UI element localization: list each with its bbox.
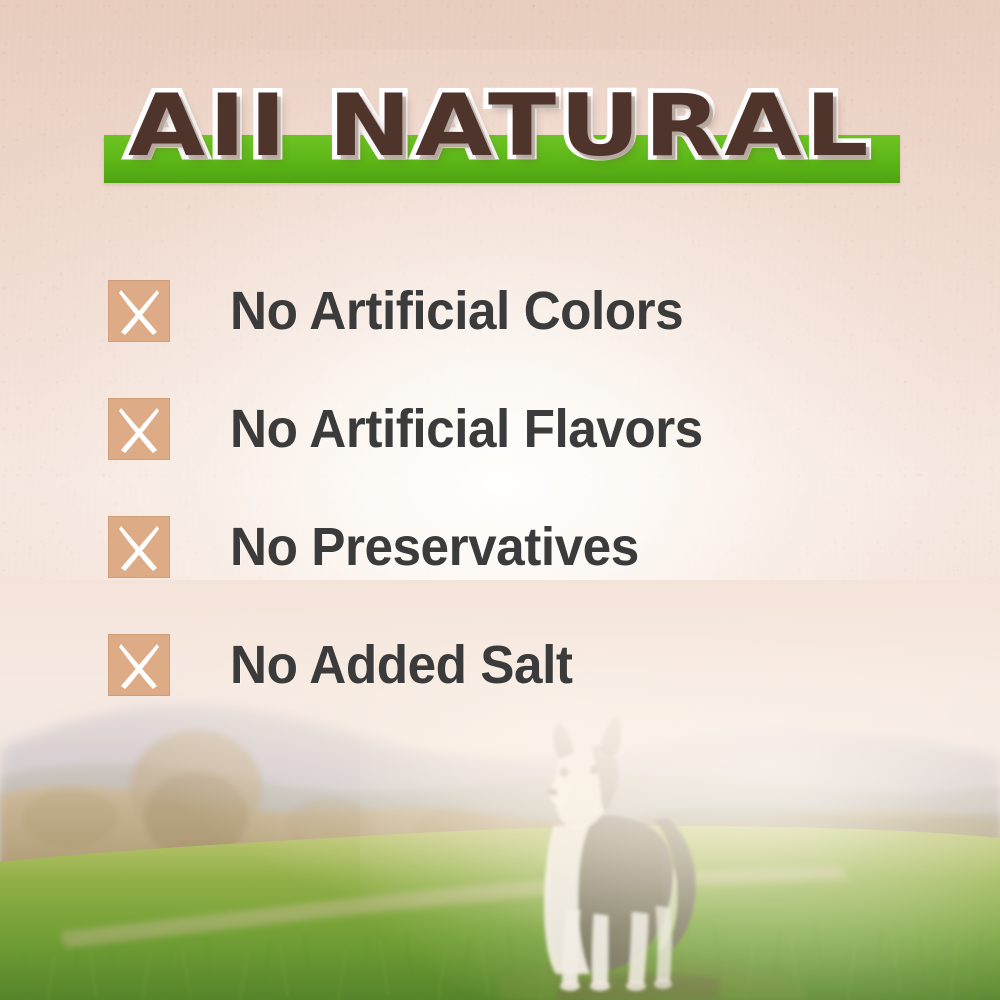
x-mark-icon [108,280,170,342]
feature-label: No Artificial Colors [230,282,683,340]
list-item: No Artificial Colors [108,252,928,370]
x-mark-icon [108,634,170,696]
x-mark-icon [108,398,170,460]
list-item: No Artificial Flavors [108,370,928,488]
feature-label: No Preservatives [230,518,639,576]
all-natural-feature-panel: AII NATURAL No Artificial Colors No Arti… [0,0,1000,1000]
x-mark-glyph [108,634,170,696]
x-mark-glyph [108,398,170,460]
feature-label: No Added Salt [230,636,572,694]
feature-list: No Artificial Colors No Artificial Flavo… [108,252,928,724]
page-title: AII NATURAL [0,74,1000,178]
title-block: AII NATURAL [0,74,1000,194]
list-item: No Preservatives [108,488,928,606]
x-mark-glyph [108,516,170,578]
list-item: No Added Salt [108,606,928,724]
x-mark-icon [108,516,170,578]
x-mark-glyph [108,280,170,342]
feature-label: No Artificial Flavors [230,400,703,458]
